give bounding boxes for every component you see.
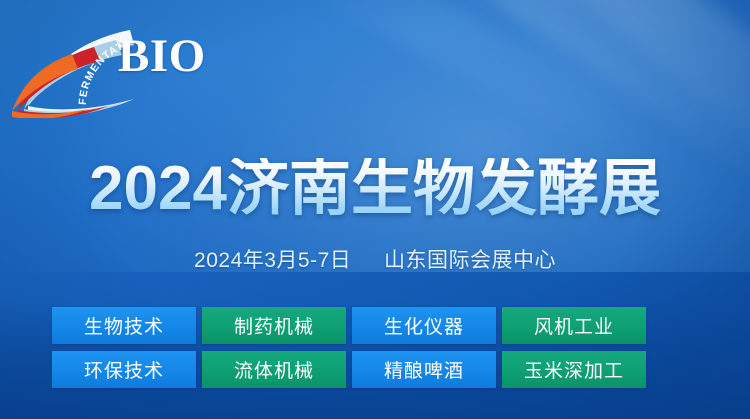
category-tag-pharma-machinery[interactable]: 制药机械 — [202, 307, 346, 344]
category-tag-environmental-tech[interactable]: 环保技术 — [52, 351, 196, 388]
category-tag-biochem-instruments[interactable]: 生化仪器 — [352, 307, 496, 344]
poster-subtitle: 2024年3月5-7日 山东国际会展中心 — [0, 250, 750, 271]
category-tag-grid: 生物技术 制药机械 生化仪器 风机工业 环保技术 流体机械 精酿啤酒 玉米深加工 — [52, 307, 646, 388]
exhibition-poster: FERMENTATION BIO 2024济南生物发酵展 2024年3月5-7日… — [0, 0, 750, 419]
event-date: 2024年3月5-7日 — [194, 249, 351, 272]
event-venue: 山东国际会展中心 — [384, 249, 556, 272]
poster-title: 2024济南生物发酵展 — [0, 158, 750, 220]
category-tag-craft-beer[interactable]: 精酿啤酒 — [352, 351, 496, 388]
category-tag-fan-industry[interactable]: 风机工业 — [502, 307, 646, 344]
logo-wordmark: BIO — [118, 33, 206, 80]
bio-fermentation-logo: FERMENTATION BIO — [8, 14, 258, 118]
category-tag-fluid-machinery[interactable]: 流体机械 — [202, 351, 346, 388]
category-tag-corn-processing[interactable]: 玉米深加工 — [502, 351, 646, 388]
category-tag-biotechnology[interactable]: 生物技术 — [52, 307, 196, 344]
